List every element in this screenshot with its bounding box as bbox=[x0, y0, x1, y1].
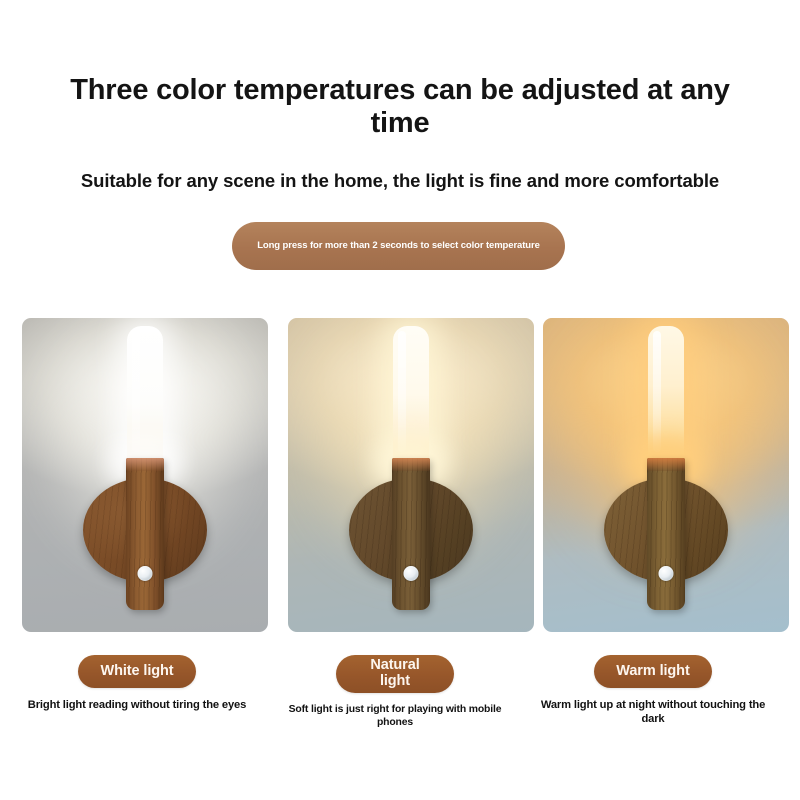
caption-text-natural-light: Soft light is just right for playing wit… bbox=[272, 704, 518, 729]
product-photo-white-light[interactable] bbox=[22, 318, 268, 632]
product-feature-page: Three color temperatures can be adjusted… bbox=[0, 0, 800, 800]
lamp-collar bbox=[647, 458, 685, 471]
tube-highlight bbox=[398, 331, 406, 452]
tube-highlight bbox=[653, 331, 661, 452]
caption-white-light: White light Bright light reading without… bbox=[14, 655, 260, 713]
wood-column bbox=[647, 458, 685, 610]
lamp-collar bbox=[126, 458, 164, 471]
label-badge-white-light[interactable]: White light bbox=[78, 655, 196, 688]
product-photo-warm-light[interactable] bbox=[543, 318, 789, 632]
product-photo-natural-light[interactable] bbox=[288, 318, 534, 632]
motion-sensor-icon bbox=[404, 566, 419, 581]
caption-warm-light: Warm light Warm light up at night withou… bbox=[530, 655, 776, 726]
motion-sensor-icon bbox=[138, 566, 153, 581]
label-badge-text: White light bbox=[101, 664, 174, 680]
tube-highlight bbox=[132, 331, 140, 452]
caption-natural-light: Naturallight Soft light is just right fo… bbox=[272, 655, 518, 729]
motion-sensor-icon bbox=[659, 566, 674, 581]
label-badge-natural-light[interactable]: Naturallight bbox=[336, 655, 454, 693]
wood-column bbox=[392, 458, 430, 610]
instruction-badge-label: Long press for more than 2 seconds to se… bbox=[257, 240, 540, 252]
page-subtitle: Suitable for any scene in the home, the … bbox=[20, 170, 780, 192]
product-photo-row bbox=[0, 318, 800, 632]
wood-column bbox=[126, 458, 164, 610]
instruction-badge: Long press for more than 2 seconds to se… bbox=[232, 222, 565, 270]
page-title: Three color temperatures can be adjusted… bbox=[44, 74, 756, 140]
caption-text-warm-light: Warm light up at night without touching … bbox=[530, 699, 776, 726]
label-badge-warm-light[interactable]: Warm light bbox=[594, 655, 712, 688]
caption-text-white-light: Bright light reading without tiring the … bbox=[14, 699, 260, 713]
lamp-collar bbox=[392, 458, 430, 471]
label-badge-text: Naturallight bbox=[370, 658, 419, 689]
label-badge-text: Warm light bbox=[616, 664, 689, 680]
